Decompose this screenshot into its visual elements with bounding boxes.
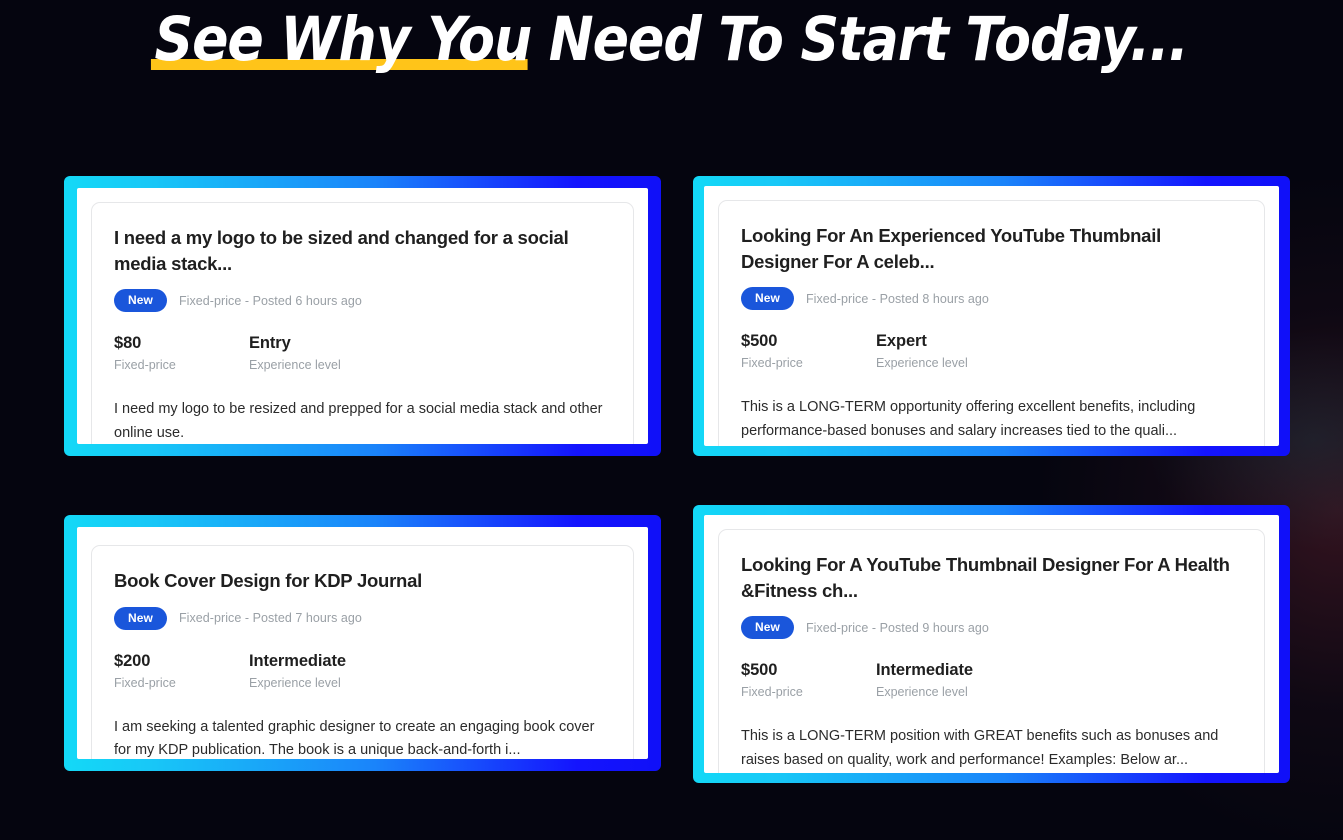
job-level-value: Expert [876, 332, 968, 351]
job-meta-row: New Fixed-price - Posted 9 hours ago [741, 616, 1242, 639]
job-card-surface: Book Cover Design for KDP Journal New Fi… [91, 545, 634, 759]
job-card-inner: Looking For An Experienced YouTube Thumb… [704, 186, 1279, 446]
job-level-value: Intermediate [249, 652, 346, 671]
job-stats-row: $500 Fixed-price Expert Experience level [741, 332, 1242, 370]
job-level-label: Experience level [876, 685, 973, 699]
job-meta-text: Fixed-price - Posted 6 hours ago [179, 294, 362, 308]
job-price-stat: $500 Fixed-price [741, 332, 876, 370]
job-price-stat: $80 Fixed-price [114, 334, 249, 372]
job-card-inner: Looking For A YouTube Thumbnail Designer… [704, 515, 1279, 773]
job-title[interactable]: Book Cover Design for KDP Journal [114, 568, 611, 594]
job-price-label: Fixed-price [114, 358, 249, 372]
headline-highlighted-text: See Why You [155, 8, 532, 72]
job-card[interactable]: Looking For A YouTube Thumbnail Designer… [693, 505, 1290, 783]
job-meta-row: New Fixed-price - Posted 6 hours ago [114, 289, 611, 312]
job-stats-row: $80 Fixed-price Entry Experience level [114, 334, 611, 372]
status-badge: New [114, 289, 167, 312]
status-badge: New [741, 616, 794, 639]
job-description: This is a LONG-TERM opportunity offering… [741, 396, 1242, 443]
job-card-surface: Looking For A YouTube Thumbnail Designer… [718, 529, 1265, 773]
job-card-inner: I need a my logo to be sized and changed… [77, 188, 648, 444]
job-description: This is a LONG-TERM position with GREAT … [741, 725, 1242, 772]
job-description: I am seeking a talented graphic designer… [114, 716, 611, 759]
job-level-label: Experience level [249, 358, 341, 372]
job-meta-row: New Fixed-price - Posted 7 hours ago [114, 607, 611, 630]
job-description: I need my logo to be resized and prepped… [114, 398, 611, 444]
job-price-label: Fixed-price [741, 685, 876, 699]
job-price-value: $500 [741, 661, 876, 680]
job-card-surface: Looking For An Experienced YouTube Thumb… [718, 200, 1265, 446]
job-stats-row: $200 Fixed-price Intermediate Experience… [114, 652, 611, 690]
job-stats-row: $500 Fixed-price Intermediate Experience… [741, 661, 1242, 699]
job-level-label: Experience level [876, 356, 968, 370]
job-level-stat: Expert Experience level [876, 332, 968, 370]
job-meta-row: New Fixed-price - Posted 8 hours ago [741, 287, 1242, 310]
job-price-value: $500 [741, 332, 876, 351]
job-meta-text: Fixed-price - Posted 7 hours ago [179, 611, 362, 625]
job-level-value: Intermediate [876, 661, 973, 680]
job-meta-text: Fixed-price - Posted 9 hours ago [806, 621, 989, 635]
job-price-label: Fixed-price [114, 676, 249, 690]
job-level-stat: Entry Experience level [249, 334, 341, 372]
job-price-label: Fixed-price [741, 356, 876, 370]
headline-rest-text: Need To Start Today... [531, 4, 1188, 75]
job-price-value: $80 [114, 334, 249, 353]
job-card[interactable]: Book Cover Design for KDP Journal New Fi… [64, 515, 661, 771]
job-meta-text: Fixed-price - Posted 8 hours ago [806, 292, 989, 306]
job-level-value: Entry [249, 334, 341, 353]
job-level-stat: Intermediate Experience level [249, 652, 346, 690]
status-badge: New [114, 607, 167, 630]
status-badge: New [741, 287, 794, 310]
job-level-stat: Intermediate Experience level [876, 661, 973, 699]
job-title[interactable]: Looking For An Experienced YouTube Thumb… [741, 223, 1242, 274]
page-title: See Why You Need To Start Today... [0, 8, 1343, 72]
job-card[interactable]: Looking For An Experienced YouTube Thumb… [693, 176, 1290, 456]
job-card-inner: Book Cover Design for KDP Journal New Fi… [77, 527, 648, 759]
job-price-stat: $200 Fixed-price [114, 652, 249, 690]
job-price-stat: $500 Fixed-price [741, 661, 876, 699]
job-card-surface: I need a my logo to be sized and changed… [91, 202, 634, 444]
job-title[interactable]: Looking For A YouTube Thumbnail Designer… [741, 552, 1242, 603]
job-card[interactable]: I need a my logo to be sized and changed… [64, 176, 661, 456]
job-card-grid: I need a my logo to be sized and changed… [0, 0, 1343, 812]
job-level-label: Experience level [249, 676, 346, 690]
job-title[interactable]: I need a my logo to be sized and changed… [114, 225, 611, 276]
job-price-value: $200 [114, 652, 249, 671]
